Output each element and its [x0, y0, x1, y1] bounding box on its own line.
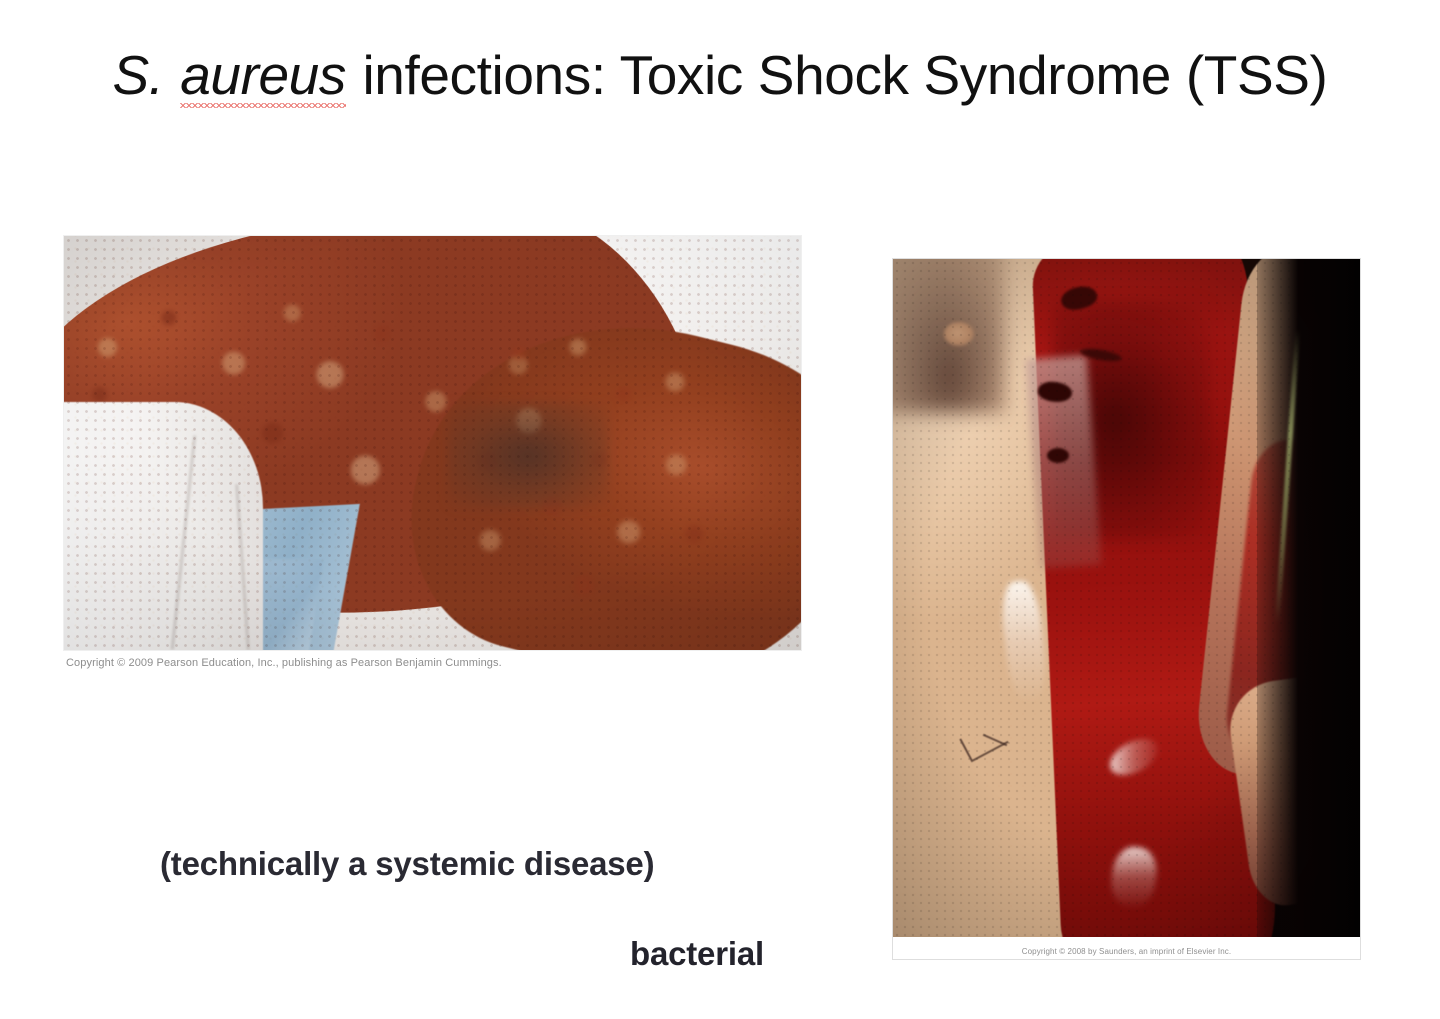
- necrotizing-infection-photo-canvas: [893, 259, 1360, 959]
- title-remainder: infections: Toxic Shock Syndrome (TSS): [362, 44, 1327, 106]
- wound-photo-credit: Copyright © 2008 by Saunders, an imprint…: [893, 947, 1360, 956]
- tss-rash-photo: [64, 236, 801, 650]
- title-genus-abbrev: S.: [113, 46, 164, 105]
- caption-band: Copyright © 2008 by Saunders, an imprint…: [893, 937, 1360, 959]
- note-bacterial: bacterial: [630, 935, 764, 973]
- photo-vignette: [64, 236, 801, 650]
- slide-title: S.aureusinfections: Toxic Shock Syndrome…: [0, 46, 1440, 105]
- necrotizing-infection-photo: Copyright © 2008 by Saunders, an imprint…: [893, 259, 1360, 959]
- note-systemic-disease: (technically a systemic disease): [160, 845, 654, 883]
- rash-photo-credit: Copyright © 2009 Pearson Education, Inc.…: [66, 657, 502, 670]
- title-species-misspelled: aureus: [180, 46, 346, 105]
- photo-vignette: [893, 259, 1360, 959]
- tss-rash-photo-canvas: [64, 236, 801, 650]
